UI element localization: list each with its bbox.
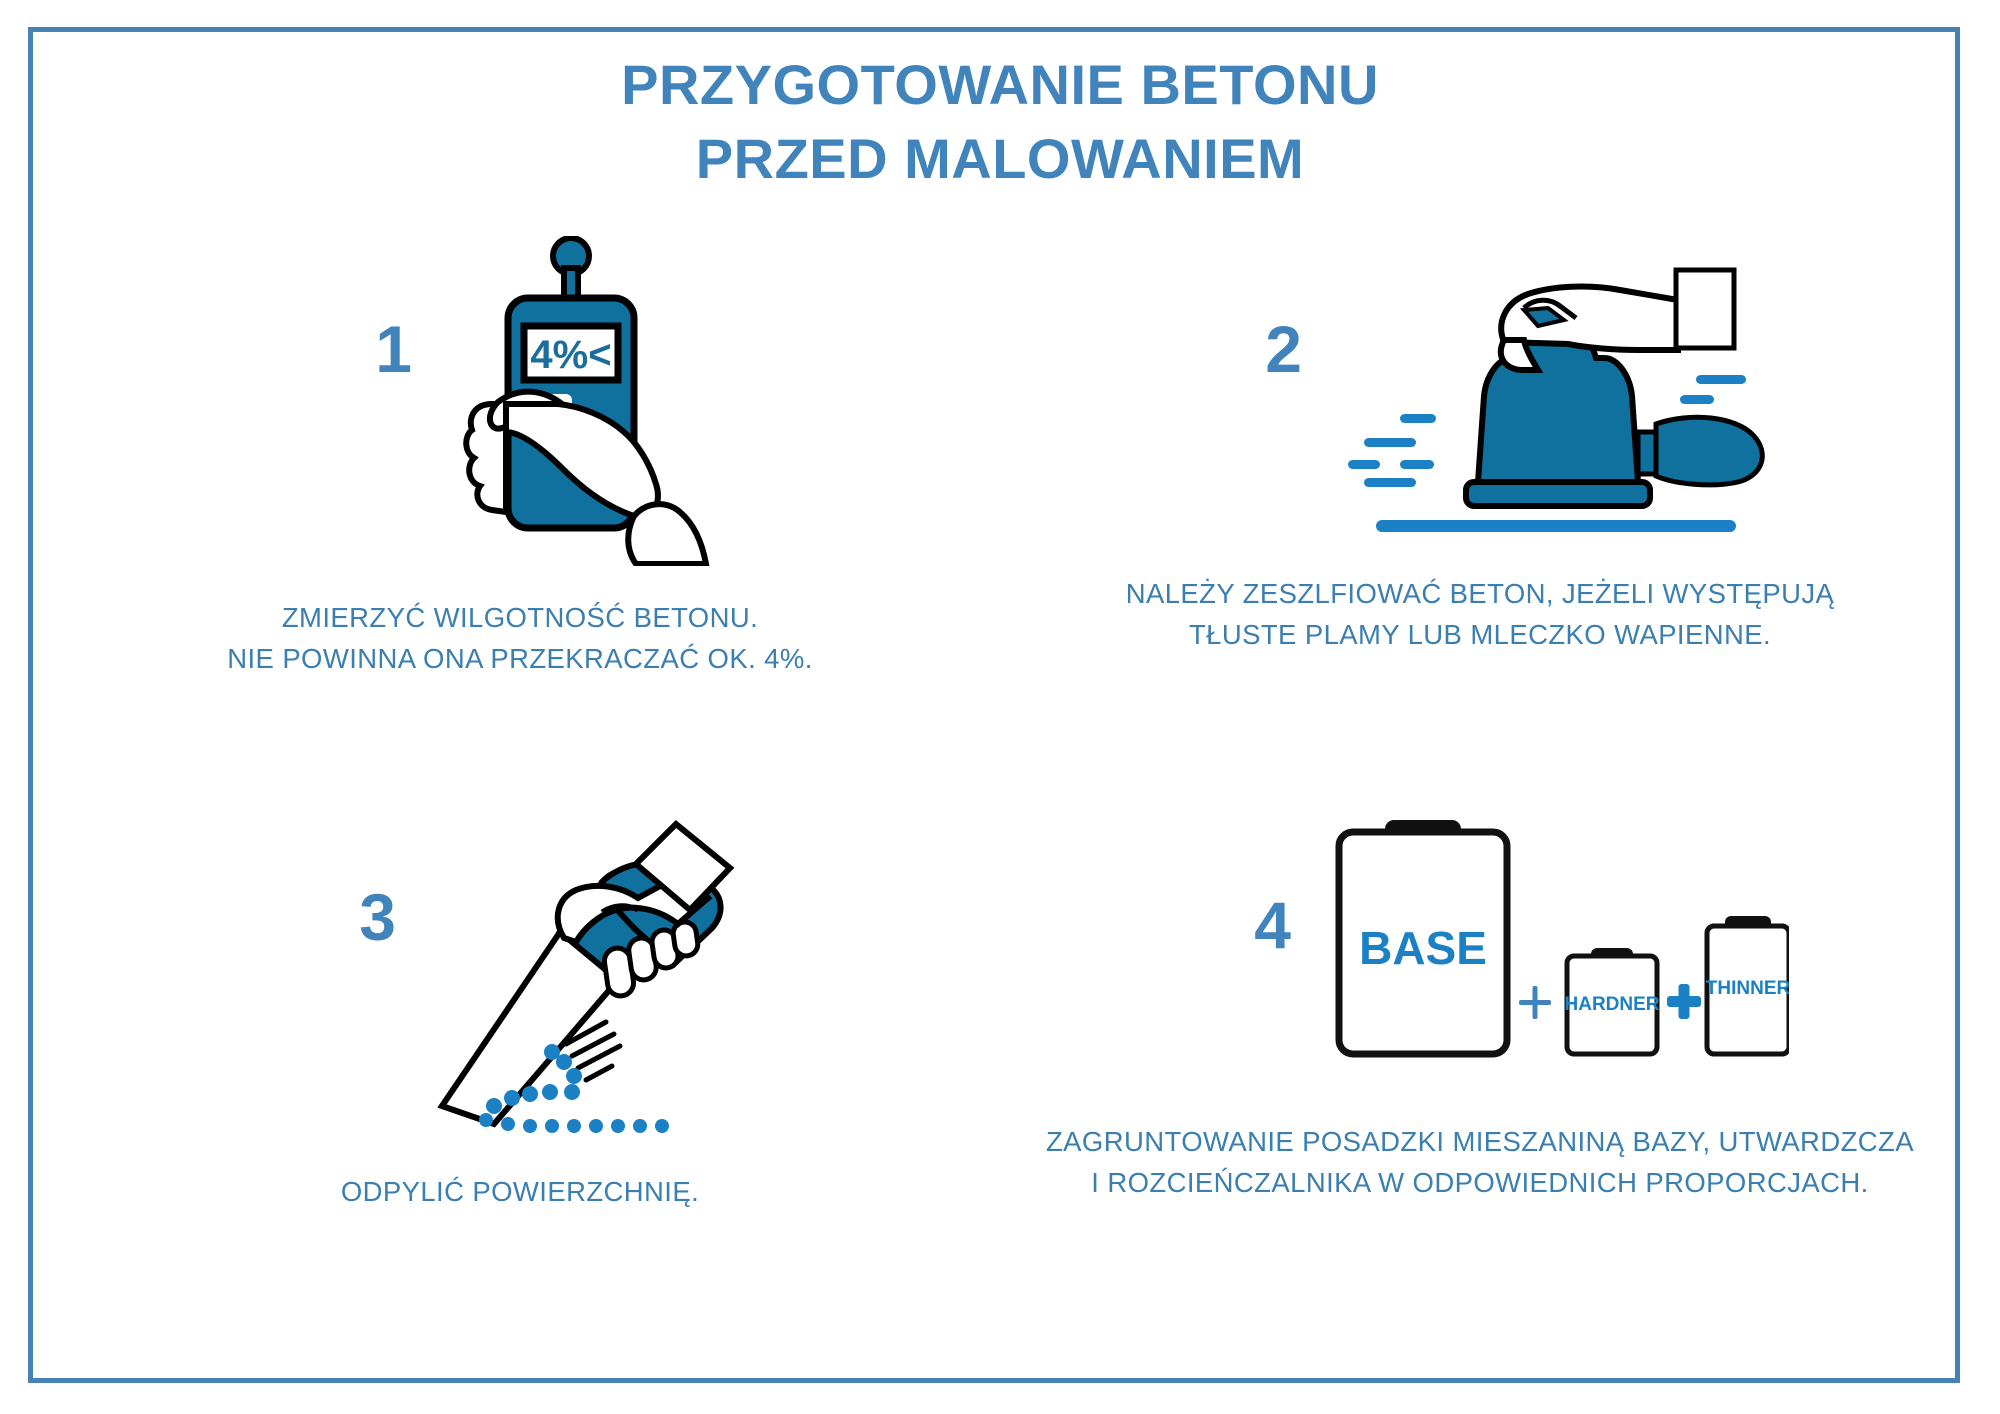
step-2-caption-line-1: NALEŻY ZESZLFIOWAĆ BETON, JEŻELI WYSTĘPU… xyxy=(1029,574,1931,615)
motion-lines-right xyxy=(1680,375,1746,404)
plus-operator-1 xyxy=(1519,986,1551,1019)
page-title: PRZYGOTOWANIE BETONU PRZED MALOWANIEM xyxy=(0,48,2000,196)
step-1: 1 4%< xyxy=(40,236,1000,806)
step-1-top: 1 4%< xyxy=(35,236,1005,566)
steps-grid: 1 4%< xyxy=(40,236,1960,1376)
step-4-caption: ZAGRUNTOWANIE POSADZKI MIESZANINĄ BAZY, … xyxy=(1029,1122,1931,1203)
step-4-caption-line-1: ZAGRUNTOWANIE POSADZKI MIESZANINĄ BAZY, … xyxy=(1029,1122,1931,1163)
title-line-1: PRZYGOTOWANIE BETONU xyxy=(0,48,2000,122)
step-1-caption-line-1: ZMIERZYĆ WILGOTNOŚĆ BETONU. xyxy=(69,598,971,639)
step-3-caption-line-1: ODPYLIĆ POWIERZCHNIĘ. xyxy=(69,1172,971,1213)
title-line-2: PRZED MALOWANIEM xyxy=(0,122,2000,196)
infographic-poster: PRZYGOTOWANIE BETONU PRZED MALOWANIEM 1 … xyxy=(0,0,2000,1414)
step-3: 3 xyxy=(40,806,1000,1376)
plus-operator-2 xyxy=(1667,984,1701,1019)
step-4: 4 BASE xyxy=(1000,806,1960,1376)
step-3-top: 3 xyxy=(40,806,1000,1136)
step-2: 2 xyxy=(1000,236,1960,806)
paint-cans-mixture-icon: BASE HARDNER xyxy=(1319,806,1789,1076)
step-1-caption: ZMIERZYĆ WILGOTNOŚĆ BETONU. NIE POWINNA … xyxy=(69,598,971,679)
step-2-top: 2 xyxy=(1000,236,1960,536)
step-4-caption-line-2: I ROZCIEŃCZALNIKA W ODPOWIEDNICH PROPORC… xyxy=(1029,1163,1931,1204)
step-3-caption: ODPYLIĆ POWIERZCHNIĘ. xyxy=(69,1172,971,1213)
handheld-vacuum-in-hand-icon xyxy=(424,806,764,1136)
can-hardner: HARDNER xyxy=(1565,948,1660,1054)
orbital-sander-in-hand-icon xyxy=(1338,236,1778,536)
step-4-top: 4 BASE xyxy=(1000,806,1960,1076)
step-2-caption-line-2: TŁUSTE PLAMY LUB MLECZKO WAPIENNE. xyxy=(1029,615,1931,656)
step-number-2: 2 xyxy=(1182,316,1302,382)
meter-display-value: 4%< xyxy=(530,333,611,377)
can-base: BASE xyxy=(1339,820,1507,1054)
floor-line xyxy=(1376,520,1736,532)
can-hardner-label: HARDNER xyxy=(1565,994,1660,1015)
step-2-caption: NALEŻY ZESZLFIOWAĆ BETON, JEŻELI WYSTĘPU… xyxy=(1029,574,1931,655)
motion-lines-left xyxy=(1348,414,1436,487)
step-number-1: 1 xyxy=(292,316,412,382)
can-thinner-label: THINNER xyxy=(1706,978,1789,999)
can-base-label: BASE xyxy=(1359,922,1487,974)
step-number-4: 4 xyxy=(1171,892,1291,958)
step-number-3: 3 xyxy=(276,884,396,950)
moisture-meter-in-hand-icon: 4%< xyxy=(458,236,758,566)
step-1-caption-line-2: NIE POWINNA ONA PRZEKRACZAĆ OK. 4%. xyxy=(69,639,971,680)
can-thinner: THINNER xyxy=(1706,916,1789,1054)
